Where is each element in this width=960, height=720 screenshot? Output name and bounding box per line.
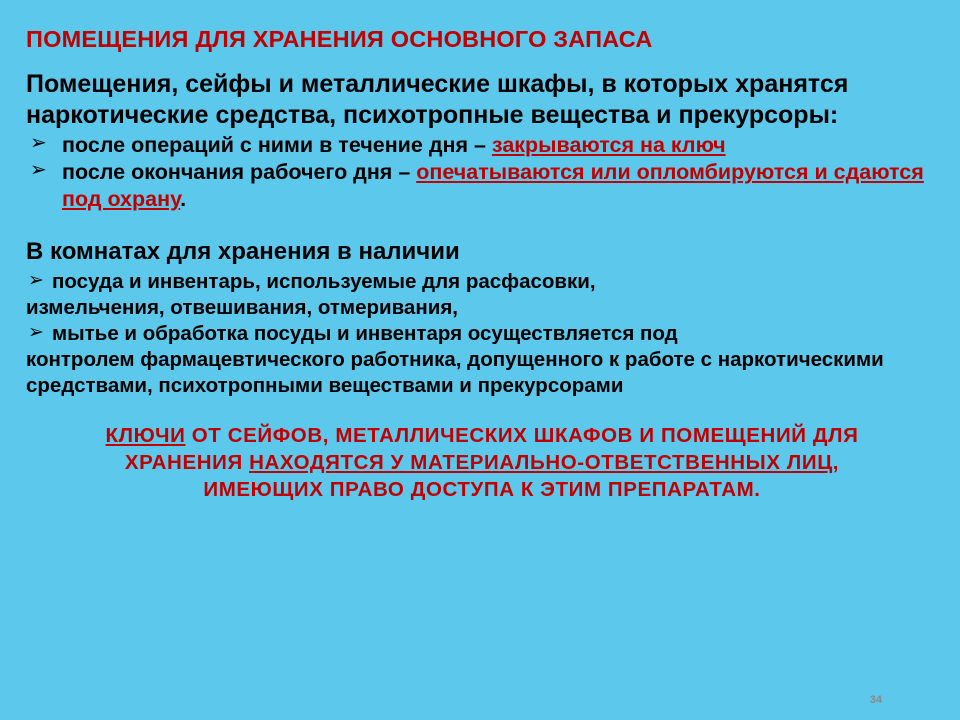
footer-statement: КЛЮЧИ ОТ СЕЙФОВ, МЕТАЛЛИЧЕСКИХ ШКАФОВ И … <box>26 423 938 503</box>
footer-keyword-responsible-persons: НАХОДЯТСЯ У МАТЕРИАЛЬНО-ОТВЕТСТВЕННЫХ ЛИ… <box>249 451 833 474</box>
page-title: ПОМЕЩЕНИЯ ДЛЯ ХРАНЕНИЯ ОСНОВНОГО ЗАПАСА <box>26 26 938 53</box>
arrow-bullet-icon: ➢ <box>28 269 44 293</box>
bullet-text-line2: измельчения, отвешивания, отмеривания, <box>26 295 938 321</box>
bullet-list-equipment: ➢ посуда и инвентарь, используемые для р… <box>26 269 938 399</box>
bullet-text-line1: посуда и инвентарь, используемые для рас… <box>52 270 596 293</box>
bullet-list-storage-rules: ➢ после операций с ними в течение дня – … <box>26 132 938 212</box>
slide-number: 34 <box>870 694 882 706</box>
list-item: ➢ посуда и инвентарь, используемые для р… <box>26 269 938 321</box>
arrow-bullet-icon: ➢ <box>28 321 44 345</box>
bullet-text-tail: . <box>180 187 186 211</box>
bullet-text-highlight: закрываются на ключ <box>492 133 726 157</box>
lead-paragraph: Помещения, сейфы и металлические шкафы, … <box>26 69 938 130</box>
arrow-bullet-icon: ➢ <box>30 131 47 156</box>
bullet-text-line1: мытье и обработка посуды и инвентаря осу… <box>52 322 678 345</box>
section-heading-storage-rooms: В комнатах для хранения в наличии <box>26 238 938 267</box>
footer-keyword-keys: КЛЮЧИ <box>106 424 186 447</box>
bullet-text-black: после операций с ними в течение дня – <box>62 133 492 157</box>
slide-root: ПОМЕЩЕНИЯ ДЛЯ ХРАНЕНИЯ ОСНОВНОГО ЗАПАСА … <box>0 0 960 720</box>
bullet-text-line2: контролем фармацевтического работника, д… <box>26 347 938 399</box>
list-item: ➢ после окончания рабочего дня – опечаты… <box>26 159 938 212</box>
list-item: ➢ мытье и обработка посуды и инвентаря о… <box>26 321 938 399</box>
list-item: ➢ после операций с ними в течение дня – … <box>26 132 938 158</box>
bullet-text-black: после окончания рабочего дня – <box>62 160 416 184</box>
arrow-bullet-icon: ➢ <box>30 158 47 183</box>
